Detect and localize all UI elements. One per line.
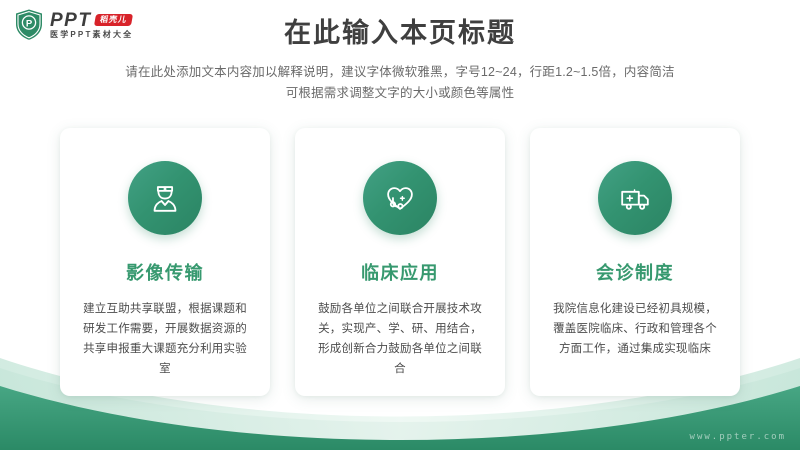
slide-canvas: P PPT 稻壳儿 医学PPT素材大全 在此输入本页标题 请在此处添加文本内容加… bbox=[0, 0, 800, 450]
ambulance-icon bbox=[616, 179, 654, 217]
feature-card-body: 建立互助共享联盟，根据课题和研发工作需要，开展数据资源的共享申报重大课题充分利用… bbox=[79, 299, 251, 379]
feature-card-title: 临床应用 bbox=[361, 264, 439, 282]
feature-icon-badge bbox=[128, 161, 202, 235]
feature-card[interactable]: 临床应用 鼓励各单位之间联合开展技术攻关，实现产、学、研、用结合，形成创新合力鼓… bbox=[295, 128, 505, 396]
feature-card[interactable]: 影像传输 建立互助共享联盟，根据课题和研发工作需要，开展数据资源的共享申报重大课… bbox=[60, 128, 270, 396]
page-subtitle-line-1: 请在此处添加文本内容加以解释说明，建议字体微软雅黑，字号12~24，行距1.2~… bbox=[0, 62, 800, 83]
feature-icon-badge bbox=[363, 161, 437, 235]
feature-card-body: 鼓励各单位之间联合开展技术攻关，实现产、学、研、用结合，形成创新合力鼓励各单位之… bbox=[314, 299, 486, 379]
feature-card[interactable]: 会诊制度 我院信息化建设已经初具规模，覆盖医院临床、行政和管理各个方面工作，通过… bbox=[530, 128, 740, 396]
feature-icon-badge bbox=[598, 161, 672, 235]
heart-stethoscope-icon bbox=[381, 179, 419, 217]
feature-card-title: 会诊制度 bbox=[596, 264, 674, 282]
feature-card-list: 影像传输 建立互助共享联盟，根据课题和研发工作需要，开展数据资源的共享申报重大课… bbox=[60, 128, 740, 396]
feature-card-title: 影像传输 bbox=[126, 264, 204, 282]
feature-card-body: 我院信息化建设已经初具规模，覆盖医院临床、行政和管理各个方面工作，通过集成实现临… bbox=[549, 299, 721, 359]
page-subtitle-line-2: 可根据需求调整文字的大小或颜色等属性 bbox=[0, 83, 800, 104]
page-subtitle: 请在此处添加文本内容加以解释说明，建议字体微软雅黑，字号12~24，行距1.2~… bbox=[0, 62, 800, 104]
site-watermark: www.ppter.com bbox=[690, 432, 786, 442]
doctor-icon bbox=[146, 179, 184, 217]
page-title: 在此输入本页标题 bbox=[0, 16, 800, 51]
